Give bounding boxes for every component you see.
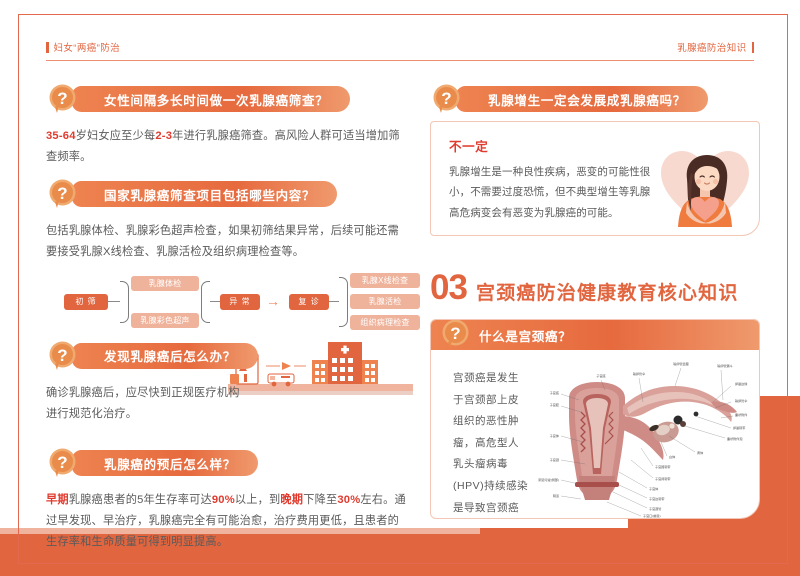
header-right: 乳腺癌防治知识 bbox=[677, 40, 754, 54]
svg-text:阴道穹窿(侧部): 阴道穹窿(侧部) bbox=[538, 477, 559, 482]
flow-node-branch2-0: 乳腺X线检查 bbox=[350, 273, 420, 288]
answer-text-3: 确诊乳腺癌后，应尽快到正规医疗机构进行规范化治疗。 bbox=[46, 383, 246, 424]
svg-text:子宫底: 子宫底 bbox=[596, 373, 605, 378]
cervical-body-text: 宫颈癌是发生于宫颈部上皮组织的恶性肿瘤，高危型人乳头瘤病毒(HPV)持续感染是导… bbox=[453, 368, 529, 519]
answer-body: 乳腺增生是一种良性疾病，恶变的可能性很小，不需要过度恐慌，但不典型增生等乳腺高危… bbox=[449, 162, 655, 223]
svg-text:输卵管伞: 输卵管伞 bbox=[633, 371, 646, 376]
svg-text:卵巢边缘: 卵巢边缘 bbox=[735, 381, 747, 386]
answer-run: 下降至 bbox=[303, 494, 337, 506]
answer-text-1: 35-64岁妇女应至少每2-3年进行乳腺癌筛查。高风险人群可适当增加筛查频率。 bbox=[46, 126, 406, 167]
svg-text:输卵管漏斗: 输卵管漏斗 bbox=[717, 363, 732, 368]
answer-emphasis: 35-64 bbox=[46, 130, 76, 142]
question-label: 乳腺癌的预后怎么样？ bbox=[104, 454, 236, 473]
left-column: 女性间隔多长时间做一次乳腺癌筛查？ ? 35-64岁妇女应至少每2-3年进行乳腺… bbox=[46, 86, 406, 552]
svg-text:?: ? bbox=[57, 184, 67, 203]
answer-card-cervical: 什么是宫颈癌？ ? 宫颈癌是发生于宫颈部上皮组织的恶性肿瘤，高危型人乳头瘤病毒(… bbox=[430, 319, 760, 519]
question-label: 国家乳腺癌筛查项目包括哪些内容？ bbox=[104, 185, 315, 204]
question-pill: 发现乳腺癌后怎么办？ bbox=[72, 343, 258, 369]
answer-run: 岁妇女应至少每 bbox=[76, 130, 156, 142]
svg-text:?: ? bbox=[57, 346, 67, 365]
qa-block-4: 乳腺癌的预后怎么样？ ? bbox=[46, 450, 406, 479]
flow-node-abnormal: 异 常 bbox=[220, 294, 260, 310]
header-bar-icon bbox=[46, 42, 49, 53]
svg-text:白体: 白体 bbox=[669, 454, 675, 459]
svg-text:囊状附件: 囊状附件 bbox=[735, 412, 747, 417]
flow-node-branch2-2: 组织病理检查 bbox=[350, 315, 420, 330]
qa-block-breast-hyperplasia: 乳腺增生一定会发展成乳腺癌吗？ ? bbox=[430, 86, 760, 115]
flow-node-branch1-0: 乳腺体检 bbox=[131, 276, 199, 291]
flow-brace-open bbox=[120, 281, 129, 323]
answer-run: 乳腺癌患者的5年生存率可达 bbox=[69, 494, 212, 506]
svg-text:子宫体: 子宫体 bbox=[550, 433, 559, 438]
question-mark-icon: ? bbox=[439, 319, 472, 351]
svg-text:?: ? bbox=[441, 89, 451, 108]
svg-text:?: ? bbox=[57, 89, 67, 108]
flow-connector bbox=[108, 301, 120, 302]
svg-text:子宫底: 子宫底 bbox=[550, 390, 559, 395]
flow-brace-open bbox=[339, 277, 348, 327]
svg-text:子宫颈管: 子宫颈管 bbox=[649, 506, 661, 511]
question-mark-icon: ? bbox=[46, 340, 79, 373]
question-mark-icon: ? bbox=[46, 83, 79, 116]
svg-text:输卵管壶腹: 输卵管壶腹 bbox=[673, 361, 688, 366]
svg-text:子宫腔: 子宫腔 bbox=[550, 402, 559, 407]
question-pill: 乳腺癌的预后怎么样？ bbox=[72, 450, 258, 476]
question-mark-icon: ? bbox=[430, 83, 463, 116]
flow-node-branch2-1: 乳腺活检 bbox=[350, 294, 420, 309]
right-column: 乳腺增生一定会发展成乳腺癌吗？ ? 不一定 乳腺增生是一种良性疾病，恶变的可能性… bbox=[430, 86, 760, 519]
question-label: 什么是宫颈癌？ bbox=[479, 326, 571, 345]
qa-block-1: 女性间隔多长时间做一次乳腺癌筛查？ ? bbox=[46, 86, 406, 115]
question-label: 女性间隔多长时间做一次乳腺癌筛查？ bbox=[104, 90, 328, 109]
svg-text:?: ? bbox=[450, 324, 460, 343]
flow-node-revisit: 复 诊 bbox=[289, 294, 329, 310]
answer-run: 包括乳腺体检、乳腺彩色超声检查，如果初筛结果异常，后续可能还需要接受乳腺X线检查… bbox=[46, 225, 399, 258]
question-pill: 国家乳腺癌筛查项目包括哪些内容？ bbox=[72, 181, 337, 207]
flow-connector bbox=[329, 301, 339, 302]
answer-emphasis: 90% bbox=[212, 494, 235, 506]
question-label: 发现乳腺癌后怎么办？ bbox=[104, 346, 236, 365]
flow-connector bbox=[210, 301, 220, 302]
svg-text:子宫阔韧带: 子宫阔韧带 bbox=[655, 476, 670, 481]
svg-text:子宫颈: 子宫颈 bbox=[550, 457, 559, 462]
section-title: 宫颈癌防治健康教育核心知识 bbox=[476, 278, 739, 305]
flow-node-start: 初 筛 bbox=[64, 294, 108, 310]
answer-emphasis: 晚期 bbox=[280, 494, 303, 506]
flow-brace-close bbox=[201, 281, 210, 323]
svg-text:子宫圆韧带: 子宫圆韧带 bbox=[655, 464, 670, 469]
woman-hugging-heart-illustration bbox=[657, 141, 753, 233]
answer-card-hyperplasia: 不一定 乳腺增生是一种良性疾病，恶变的可能性很小，不需要过度恐慌，但不典型增生等… bbox=[430, 121, 760, 236]
flow-arrow-icon: → bbox=[266, 294, 280, 308]
svg-text:输卵管伞: 输卵管伞 bbox=[735, 398, 748, 403]
svg-text:?: ? bbox=[57, 453, 67, 472]
svg-text:阴道: 阴道 bbox=[553, 493, 559, 498]
header-left: 妇女“两癌”防治 bbox=[46, 40, 120, 54]
svg-text:子宫边韧带: 子宫边韧带 bbox=[649, 496, 664, 501]
svg-text:子宫口(前唇): 子宫口(前唇) bbox=[643, 513, 661, 518]
answer-emphasis: 早期 bbox=[46, 494, 69, 506]
svg-text:囊状附件泡: 囊状附件泡 bbox=[727, 436, 742, 441]
question-mark-icon: ? bbox=[46, 178, 79, 211]
header-divider bbox=[46, 60, 754, 61]
flow-node-branch1-1: 乳腺彩色超声 bbox=[131, 313, 199, 328]
question-label: 乳腺增生一定会发展成乳腺癌吗？ bbox=[488, 90, 686, 109]
page-header: 妇女“两癌”防治 乳腺癌防治知识 bbox=[46, 40, 754, 66]
question-pill: 女性间隔多长时间做一次乳腺癌筛查？ bbox=[72, 86, 350, 112]
answer-run: 确诊乳腺癌后，应尽快到正规医疗机构进行规范化治疗。 bbox=[46, 387, 240, 420]
question-pill: 乳腺增生一定会发展成乳腺癌吗？ bbox=[456, 86, 708, 112]
section-heading-03: 03 宫颈癌防治健康教育核心知识 bbox=[430, 270, 760, 305]
svg-text:卵巢韧带: 卵巢韧带 bbox=[733, 425, 745, 430]
header-right-label: 乳腺癌防治知识 bbox=[677, 40, 746, 54]
answer-text-2: 包括乳腺体检、乳腺彩色超声检查，如果初筛结果异常，后续可能还需要接受乳腺X线检查… bbox=[46, 221, 406, 262]
header-left-label: 妇女“两癌”防治 bbox=[54, 40, 121, 54]
screening-flowchart: 初 筛 乳腺体检 乳腺彩色超声 异 常 → 复 诊 乳腺X线检查 乳腺活检 组织… bbox=[46, 273, 426, 331]
qa-block-2: 国家乳腺癌筛查项目包括哪些内容？ ? bbox=[46, 181, 406, 210]
answer-emphasis: 2-3 bbox=[155, 130, 172, 142]
svg-text:黄体: 黄体 bbox=[697, 450, 703, 455]
question-mark-icon: ? bbox=[46, 447, 79, 480]
section-number: 03 bbox=[430, 270, 467, 305]
uterus-anatomy-diagram: 子宫底 子宫腔 子宫体 子宫颈 阴道穹窿(侧部) 阴道 子宫底 输卵管伞 输卵管… bbox=[535, 356, 759, 518]
answer-run: 以上，到 bbox=[235, 494, 281, 506]
answer-emphasis: 30% bbox=[337, 494, 360, 506]
card-header-bar: 什么是宫颈癌？ bbox=[431, 320, 759, 350]
answer-text-4: 早期乳腺癌患者的5年生存率可达90%以上，到晚期下降至30%左右。通过早发现、早… bbox=[46, 490, 406, 552]
header-bar-icon bbox=[752, 42, 755, 53]
qa-block-3: 发现乳腺癌后怎么办？ ? bbox=[46, 343, 406, 372]
svg-text:子宫体: 子宫体 bbox=[649, 486, 658, 491]
